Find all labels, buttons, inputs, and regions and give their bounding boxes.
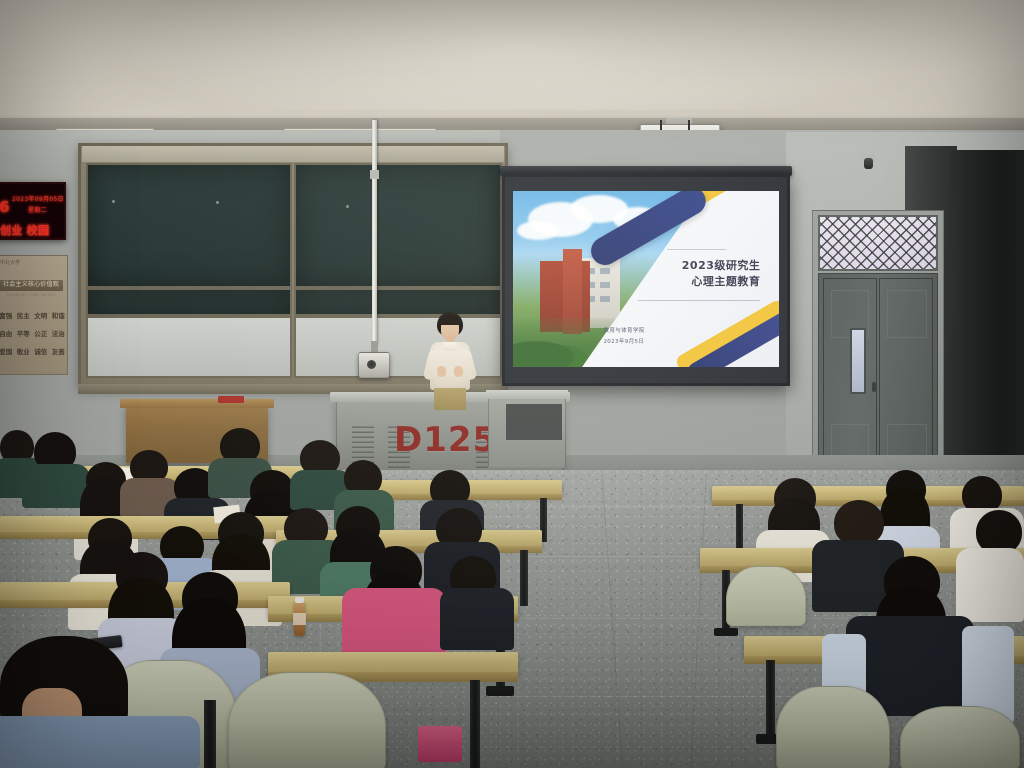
socialist-core-values-poster: 中北大学 社会主义核心价值观 SOCIALIST CORE VALUES 富强民… — [0, 255, 68, 375]
slide-title-line-2: 心理主题教育 — [682, 274, 761, 290]
hanging-pole — [372, 120, 377, 345]
pink-bag — [418, 726, 462, 762]
led-big-digit: 6 — [0, 198, 10, 216]
seat-back — [776, 686, 890, 768]
presenter-skirt — [434, 388, 466, 410]
presentation-slide: 2023级研究生 心理主题教育 教育与体育学院 2023年9月5日 — [513, 191, 779, 367]
led-display-board: 6 2023年09月05日 星期二 创业 校园 — [0, 182, 66, 240]
presenter-collar — [443, 342, 457, 351]
ceiling-light-glow — [120, 0, 920, 110]
student-torso-foreground — [0, 716, 200, 768]
bottle-label — [293, 613, 306, 625]
slide-rule-bottom — [638, 300, 760, 301]
security-camera — [864, 158, 873, 169]
led-date: 2023年09月05日 — [12, 194, 64, 203]
lectern-top-surface — [120, 399, 274, 408]
led-weekday: 星期二 — [28, 205, 47, 214]
desk-leg — [736, 504, 743, 550]
chalkboard-panel-left-b — [86, 288, 292, 316]
poster-values-row-1: 富强民主 文明和谐 — [0, 310, 67, 320]
poster-subheading: SOCIALIST CORE VALUES — [1, 293, 61, 297]
poster-values-row-3: 爱国敬业 诚信友善 — [0, 346, 67, 356]
slide-title: 2023级研究生 心理主题教育 — [682, 258, 761, 290]
chalkboard-mark — [112, 200, 115, 203]
seat-leg — [204, 700, 216, 768]
chalkboard-header-rail — [82, 146, 504, 162]
seat-back — [726, 566, 806, 626]
slide-title-line-1: 2023级研究生 — [682, 258, 761, 274]
slide-rule-top — [667, 249, 726, 250]
slide-date: 2023年9月5日 — [603, 337, 644, 348]
side-console-top — [486, 390, 568, 399]
classroom-photo: 6 2023年09月05日 星期二 创业 校园 中北大学 社会主义核心价值观 S… — [0, 0, 1024, 768]
chalkboard-panel-left — [86, 163, 292, 288]
seat-back — [900, 706, 1020, 768]
presenter-hand-left — [437, 366, 446, 377]
room-number-label: D125 — [394, 420, 497, 460]
hanging-pole-joint — [370, 170, 379, 179]
poster-university-logo: 中北大学 — [0, 259, 20, 266]
side-console-opening — [506, 404, 562, 440]
student-torso — [956, 548, 1024, 622]
seat-back — [228, 672, 386, 768]
chalkboard-lower-left — [86, 316, 292, 378]
bottle-cap — [295, 597, 304, 603]
door-viewing-window — [850, 328, 866, 394]
slide-footer: 教育与体育学院 2023年9月5日 — [603, 326, 644, 347]
presenter-speaker — [424, 312, 476, 408]
poster-heading: 社会主义核心价值观 — [0, 280, 63, 291]
lectern-red-object — [218, 396, 244, 403]
chalkboard-mark — [216, 201, 219, 204]
projection-screen: 2023级研究生 心理主题教育 教育与体育学院 2023年9月5日 — [502, 174, 790, 386]
desk-leg — [520, 550, 528, 606]
door-handle[interactable] — [872, 382, 876, 392]
presenter-hand-right — [454, 366, 463, 377]
hanging-camera-device — [358, 352, 390, 378]
presenter-hair-front — [439, 316, 461, 325]
slide-organization: 教育与体育学院 — [603, 326, 644, 337]
door-transom-window — [818, 215, 938, 271]
desk-leg — [470, 680, 480, 768]
floor-tile-seam — [546, 506, 808, 507]
desk-leg — [766, 660, 775, 740]
poster-values-row-2: 自由平等 公正法治 — [0, 328, 67, 338]
chalkboard-panel-right — [294, 163, 502, 288]
student-torso — [440, 588, 514, 650]
chalkboard-mark — [346, 205, 349, 208]
led-scroll-text: 创业 校园 — [0, 222, 49, 238]
